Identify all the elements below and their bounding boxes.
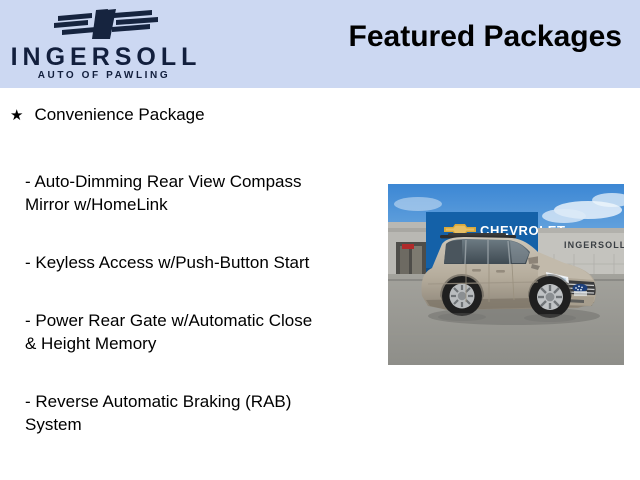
package-heading: ★ Convenience Package	[10, 104, 205, 127]
building-sign-text: INGERSOLL	[564, 240, 624, 250]
winged-speed-emblem-icon	[52, 5, 160, 43]
feature-list: - Auto-Dimming Rear View Compass Mirror …	[25, 170, 370, 471]
logo-tagline: AUTO OF PAWLING	[6, 70, 202, 82]
feature-item: - Auto-Dimming Rear View Compass Mirror …	[25, 170, 370, 216]
star-bullet-icon: ★	[10, 105, 23, 127]
slide-header-band: INGERSOLL AUTO OF PAWLING Featured Packa…	[0, 0, 640, 88]
logo-wordmark: INGERSOLL	[6, 44, 206, 70]
feature-item: - Reverse Automatic Braking (RAB) System	[25, 390, 370, 436]
dealer-logo: INGERSOLL AUTO OF PAWLING	[0, 2, 210, 86]
package-name-label: Convenience Package	[34, 104, 204, 126]
vehicle-photo: CHEVROLET INGERSOLL	[388, 184, 624, 365]
feature-item: - Power Rear Gate w/Automatic Close & He…	[25, 309, 370, 355]
page-title: Featured Packages	[349, 20, 622, 54]
feature-item: - Keyless Access w/Push-Button Start	[25, 251, 370, 274]
slide-canvas: INGERSOLL AUTO OF PAWLING Featured Packa…	[0, 0, 640, 480]
